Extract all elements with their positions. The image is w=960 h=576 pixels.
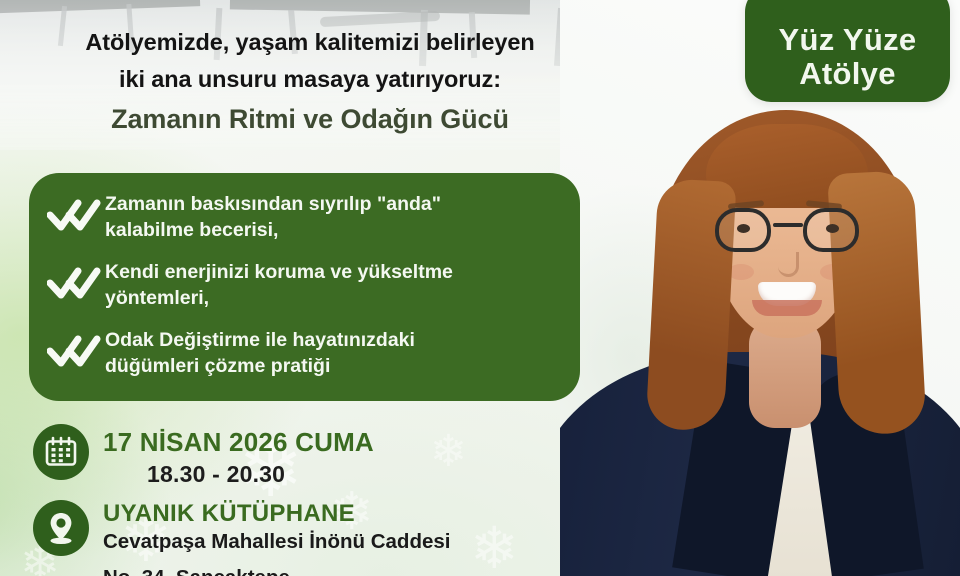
benefit-text: Kendi enerjinizi koruma ve yükseltme yön… — [105, 258, 453, 311]
badge-line-1: Yüz Yüze — [779, 23, 917, 58]
venue-name: UYANIK KÜTÜPHANE — [103, 500, 450, 528]
double-check-icon — [43, 258, 105, 314]
benefit-text-line-1: Zamanın baskısından sıyrılıp "anda" — [105, 191, 441, 217]
headline-line-2: iki ana unsuru masaya yatırıyoruz: — [0, 61, 620, 98]
benefit-item: Odak Değiştirme ile hayatınızdaki düğüml… — [43, 326, 560, 382]
glasses-bridge — [773, 223, 803, 227]
benefit-text-line-2: yöntemleri, — [105, 285, 453, 311]
venue-address-line-1: Cevatpaşa Mahallesi İnönü Caddesi — [103, 529, 450, 555]
benefit-text-line-1: Kendi enerjinizi koruma ve yükseltme — [105, 259, 453, 285]
eye-right — [826, 224, 839, 233]
event-date: 17 NİSAN 2026 CUMA — [103, 427, 374, 458]
nose — [778, 252, 799, 277]
benefit-item: Kendi enerjinizi koruma ve yükseltme yön… — [43, 258, 560, 314]
event-info-block: 17 NİSAN 2026 CUMA 18.30 - 20.30 UYANIK … — [33, 424, 593, 568]
poster-canvas: ❄ ❄ ❄ ❄ ❄ ❄ ❄ Yüz Y — [0, 0, 960, 576]
double-check-icon — [43, 326, 105, 382]
headline-line-1: Atölyemizde, yaşam kalitemizi belirleyen — [0, 24, 620, 61]
benefit-item: Zamanın baskısından sıyrılıp "anda" kala… — [43, 190, 560, 246]
benefit-text: Zamanın baskısından sıyrılıp "anda" kala… — [105, 190, 441, 243]
benefit-text-line-2: düğümleri çözme pratiği — [105, 353, 415, 379]
event-location-row: UYANIK KÜTÜPHANE Cevatpaşa Mahallesi İnö… — [33, 500, 593, 556]
benefit-text-line-1: Odak Değiştirme ile hayatınızdaki — [105, 327, 415, 353]
headline-title: Zamanın Ritmi ve Odağın Gücü — [0, 98, 620, 142]
workshop-format-badge: Yüz Yüze Atölye — [745, 0, 950, 102]
badge-line-2: Atölye — [799, 57, 896, 92]
event-time: 18.30 - 20.30 — [147, 461, 374, 488]
map-pin-icon — [33, 500, 89, 556]
benefit-text: Odak Değiştirme ile hayatınızdaki düğüml… — [105, 326, 415, 379]
event-date-row: 17 NİSAN 2026 CUMA 18.30 - 20.30 — [33, 424, 593, 488]
location-text-block: UYANIK KÜTÜPHANE Cevatpaşa Mahallesi İnö… — [103, 500, 450, 555]
date-text-block: 17 NİSAN 2026 CUMA 18.30 - 20.30 — [103, 424, 374, 488]
headline-block: Atölyemizde, yaşam kalitemizi belirleyen… — [0, 24, 620, 142]
benefit-text-line-2: kalabilme becerisi, — [105, 217, 441, 243]
venue-address-line-2: No. 34, Sancaktepe — [103, 566, 290, 576]
lower-lip — [752, 300, 822, 316]
eye-left — [737, 224, 750, 233]
calendar-icon — [33, 424, 89, 480]
benefits-card: Zamanın baskısından sıyrılıp "anda" kala… — [29, 173, 580, 401]
double-check-icon — [43, 190, 105, 246]
